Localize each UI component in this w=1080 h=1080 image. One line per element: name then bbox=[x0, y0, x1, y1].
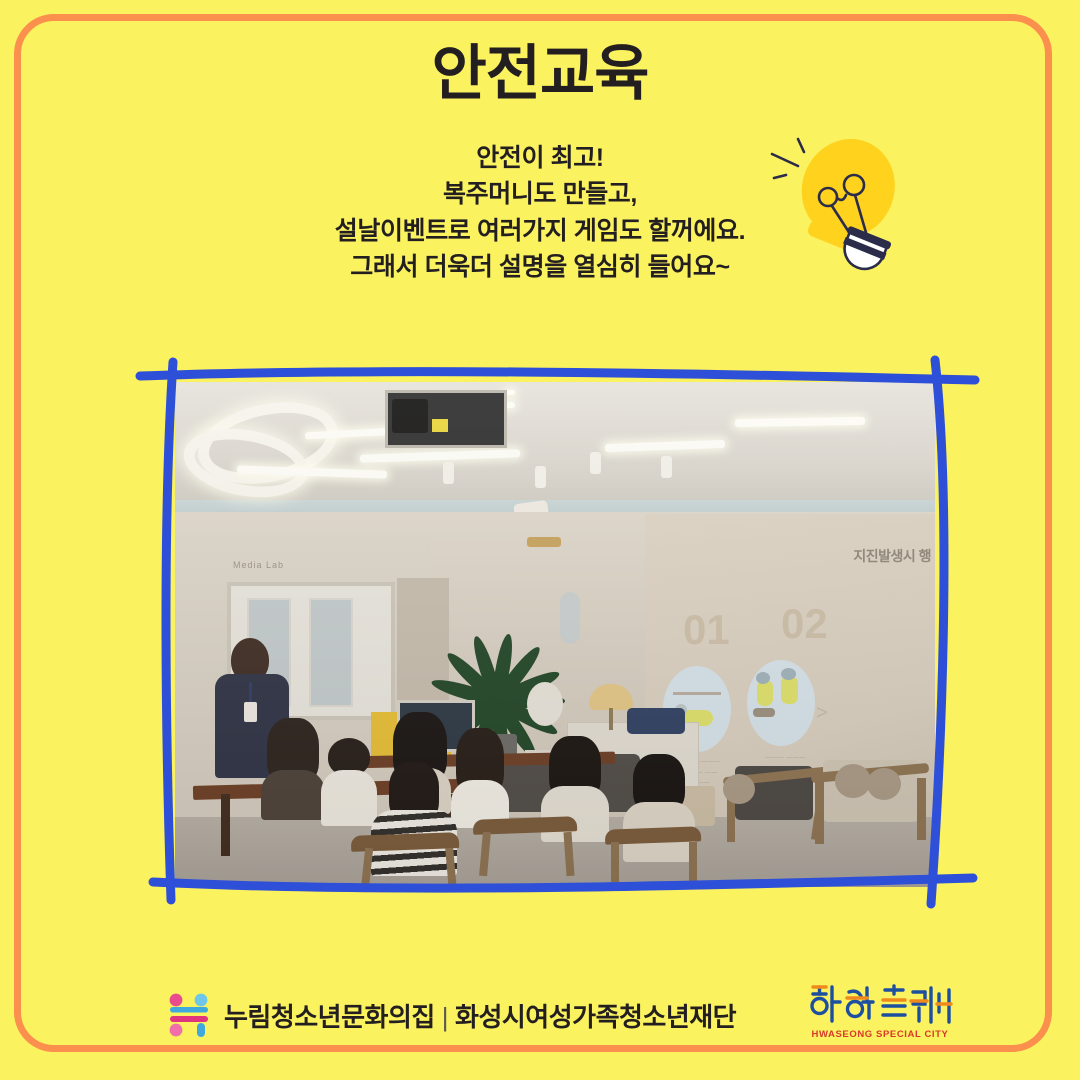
slide-title: 지진발생시 행 bbox=[853, 546, 931, 566]
footer-org-primary: 누림청소년문화의집 bbox=[224, 1002, 435, 1032]
student-figure-striped bbox=[371, 762, 457, 872]
footer-org-text: 누림청소년문화의집|화성시여성가족청소년재단 bbox=[224, 997, 736, 1034]
ceiling-projector bbox=[385, 390, 507, 448]
footer-separator: | bbox=[442, 1002, 448, 1032]
wall-sign: Media Lab bbox=[233, 560, 284, 570]
nurim-logo bbox=[168, 992, 210, 1038]
slide-step-2: 02 bbox=[781, 600, 828, 648]
student-figure bbox=[451, 728, 509, 820]
footer-org-secondary: 화성시여성가족청소년재단 bbox=[455, 1002, 736, 1032]
slide-step-1: 01 bbox=[683, 606, 730, 654]
hwaseong-city-logo: HWASEONG SPECIAL CITY bbox=[800, 982, 960, 1040]
hwaseong-city-wordmark bbox=[807, 982, 953, 1026]
student-figure bbox=[261, 718, 325, 814]
lightbulb-icon bbox=[762, 122, 922, 284]
classroom-photo: Media Lab 지진발생시 행 01 02 > bbox=[175, 382, 935, 887]
hwaseong-city-subtext: HWASEONG SPECIAL CITY bbox=[800, 1029, 960, 1040]
footer: 누림청소년문화의집|화성시여성가족청소년재단 bbox=[0, 975, 1080, 1055]
footer-org-block: 누림청소년문화의집|화성시여성가족청소년재단 bbox=[168, 975, 736, 1055]
page-title: 안전교육 bbox=[0, 42, 1080, 105]
student-figure bbox=[321, 738, 377, 824]
poster-card: 안전교육 안전이 최고! 복주머니도 만들고, 설날이벤트로 여러가지 게임도 … bbox=[0, 0, 1080, 1080]
photo-block: Media Lab 지진발생시 행 01 02 > bbox=[135, 352, 980, 912]
